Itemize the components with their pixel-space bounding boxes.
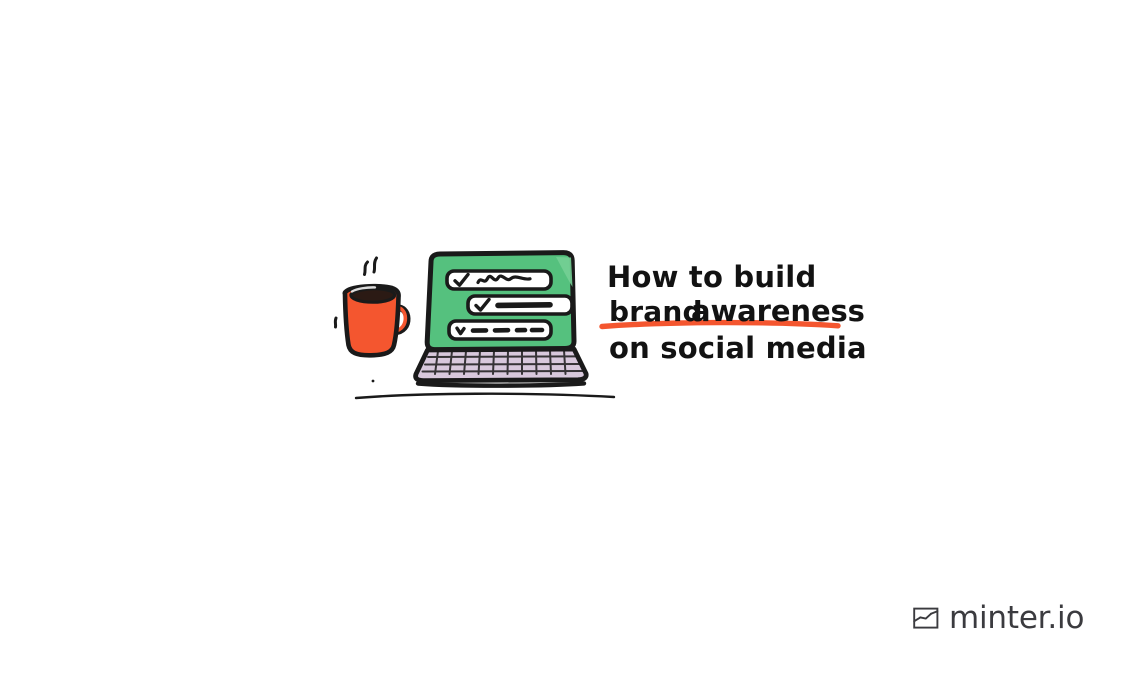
laptop-and-coffee-illustration: [318, 240, 638, 410]
logo-text: minter.io: [949, 603, 1084, 634]
coffee-mug-icon: [335, 258, 407, 355]
headline-line-3: on social media: [609, 331, 867, 365]
checklist-row-3: [449, 321, 551, 339]
headline-line-2-brand: brand: [609, 295, 703, 328]
headline-line-1: How to build: [607, 260, 816, 294]
ground-line-icon: [356, 394, 614, 398]
headline: How to build brand awareness on social m…: [600, 252, 900, 382]
page-canvas: How to build brand awareness on social m…: [0, 0, 1140, 693]
checklist-row-2: [468, 296, 572, 314]
minter-logo[interactable]: minter.io: [912, 598, 1084, 638]
headline-line-2-awareness: awareness: [691, 294, 865, 328]
chart-square-icon: [912, 604, 940, 632]
checklist-row-1: [447, 271, 551, 289]
laptop-icon: [416, 253, 587, 386]
